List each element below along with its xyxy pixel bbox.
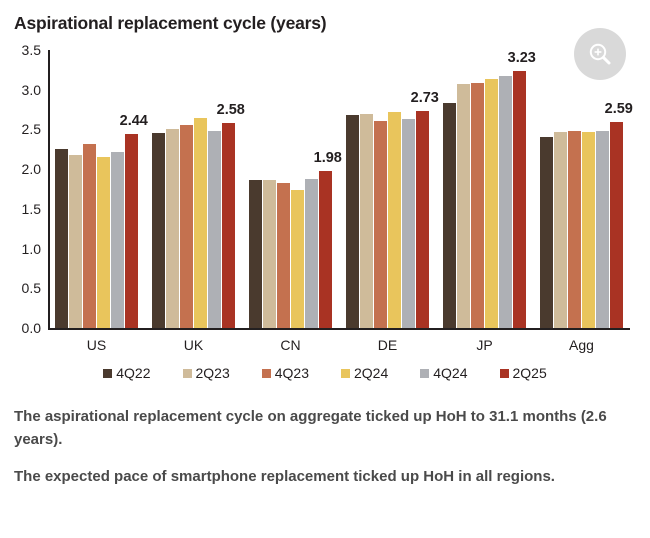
legend-item[interactable]: 2Q23 bbox=[183, 365, 230, 381]
legend-swatch bbox=[262, 369, 271, 378]
y-tick-label: 0.0 bbox=[22, 320, 41, 336]
bar[interactable] bbox=[97, 157, 110, 328]
bar[interactable] bbox=[69, 155, 82, 328]
page-title: Aspirational replacement cycle (years) bbox=[14, 13, 326, 34]
bar[interactable]: 1.98 bbox=[319, 171, 332, 328]
legend-swatch bbox=[103, 369, 112, 378]
caption-block: The aspirational replacement cycle on ag… bbox=[14, 406, 614, 502]
bar[interactable] bbox=[457, 84, 470, 328]
bar-value-label: 2.73 bbox=[411, 90, 439, 106]
legend-item[interactable]: 2Q24 bbox=[341, 365, 388, 381]
bar[interactable] bbox=[180, 125, 193, 328]
bar[interactable] bbox=[388, 112, 401, 328]
bar-group: 1.98CN bbox=[242, 50, 339, 328]
bar-value-label: 2.58 bbox=[217, 102, 245, 118]
bar[interactable] bbox=[554, 132, 567, 328]
legend-item[interactable]: 4Q24 bbox=[420, 365, 467, 381]
y-tick-label: 3.0 bbox=[22, 82, 41, 98]
bar[interactable] bbox=[568, 131, 581, 328]
bar[interactable] bbox=[582, 132, 595, 328]
bar[interactable]: 2.44 bbox=[125, 134, 138, 328]
bar[interactable] bbox=[402, 119, 415, 328]
bar-value-label: 3.23 bbox=[508, 50, 536, 66]
legend-swatch bbox=[420, 369, 429, 378]
legend-label: 4Q23 bbox=[275, 365, 309, 381]
plot-area: 0.00.51.01.52.02.53.03.5 2.44US2.58UK1.9… bbox=[48, 50, 630, 328]
legend-label: 2Q24 bbox=[354, 365, 388, 381]
bar[interactable] bbox=[485, 79, 498, 328]
x-tick-label: US bbox=[87, 337, 106, 353]
legend-swatch bbox=[341, 369, 350, 378]
bar[interactable] bbox=[194, 118, 207, 328]
y-tick-label: 3.5 bbox=[22, 42, 41, 58]
y-tick-label: 1.5 bbox=[22, 201, 41, 217]
bar[interactable] bbox=[111, 152, 124, 328]
y-tick-label: 1.0 bbox=[22, 241, 41, 257]
x-tick-label: CN bbox=[280, 337, 300, 353]
bar[interactable] bbox=[499, 76, 512, 328]
y-tick-label: 2.5 bbox=[22, 121, 41, 137]
bar[interactable] bbox=[305, 179, 318, 328]
bar[interactable] bbox=[443, 103, 456, 328]
bar[interactable] bbox=[263, 180, 276, 328]
chart-legend: 4Q222Q234Q232Q244Q242Q25 bbox=[0, 365, 650, 381]
bar-group: 2.44US bbox=[48, 50, 145, 328]
bar[interactable] bbox=[152, 133, 165, 328]
y-tick-label: 2.0 bbox=[22, 161, 41, 177]
bar-value-label: 1.98 bbox=[314, 150, 342, 166]
bar-group: 3.23JP bbox=[436, 50, 533, 328]
legend-label: 2Q25 bbox=[513, 365, 547, 381]
bar-group: 2.58UK bbox=[145, 50, 242, 328]
bar-chart: 0.00.51.01.52.02.53.03.5 2.44US2.58UK1.9… bbox=[0, 42, 650, 362]
bar[interactable] bbox=[166, 129, 179, 328]
legend-label: 2Q23 bbox=[196, 365, 230, 381]
bar-group: 2.73DE bbox=[339, 50, 436, 328]
legend-item[interactable]: 4Q23 bbox=[262, 365, 309, 381]
x-tick-label: DE bbox=[378, 337, 397, 353]
bar[interactable]: 2.73 bbox=[416, 111, 429, 328]
bar-value-label: 2.59 bbox=[605, 101, 633, 117]
bar[interactable] bbox=[208, 131, 221, 328]
bar[interactable] bbox=[360, 114, 373, 328]
legend-swatch bbox=[183, 369, 192, 378]
bar[interactable] bbox=[83, 144, 96, 328]
bar-value-label: 2.44 bbox=[120, 113, 148, 129]
bar[interactable]: 2.58 bbox=[222, 123, 235, 328]
bar[interactable] bbox=[291, 190, 304, 328]
bar[interactable] bbox=[277, 183, 290, 328]
bar[interactable] bbox=[55, 149, 68, 329]
x-tick-label: JP bbox=[476, 337, 492, 353]
caption-line-1: The aspirational replacement cycle on ag… bbox=[14, 406, 614, 452]
x-tick-label: Agg bbox=[569, 337, 594, 353]
legend-item[interactable]: 4Q22 bbox=[103, 365, 150, 381]
bar[interactable] bbox=[540, 137, 553, 328]
legend-item[interactable]: 2Q25 bbox=[500, 365, 547, 381]
bar[interactable] bbox=[596, 131, 609, 328]
bar[interactable]: 3.23 bbox=[513, 71, 526, 328]
legend-swatch bbox=[500, 369, 509, 378]
bar[interactable] bbox=[374, 121, 387, 328]
caption-line-2: The expected pace of smartphone replacem… bbox=[14, 466, 614, 489]
y-tick-label: 0.5 bbox=[22, 280, 41, 296]
x-tick-label: UK bbox=[184, 337, 203, 353]
legend-label: 4Q24 bbox=[433, 365, 467, 381]
bar-groups: 2.44US2.58UK1.98CN2.73DE3.23JP2.59Agg bbox=[48, 50, 630, 328]
bar[interactable]: 2.59 bbox=[610, 122, 623, 328]
legend-label: 4Q22 bbox=[116, 365, 150, 381]
bar-group: 2.59Agg bbox=[533, 50, 630, 328]
bar[interactable] bbox=[249, 180, 262, 328]
bar[interactable] bbox=[471, 83, 484, 328]
bar[interactable] bbox=[346, 115, 359, 328]
